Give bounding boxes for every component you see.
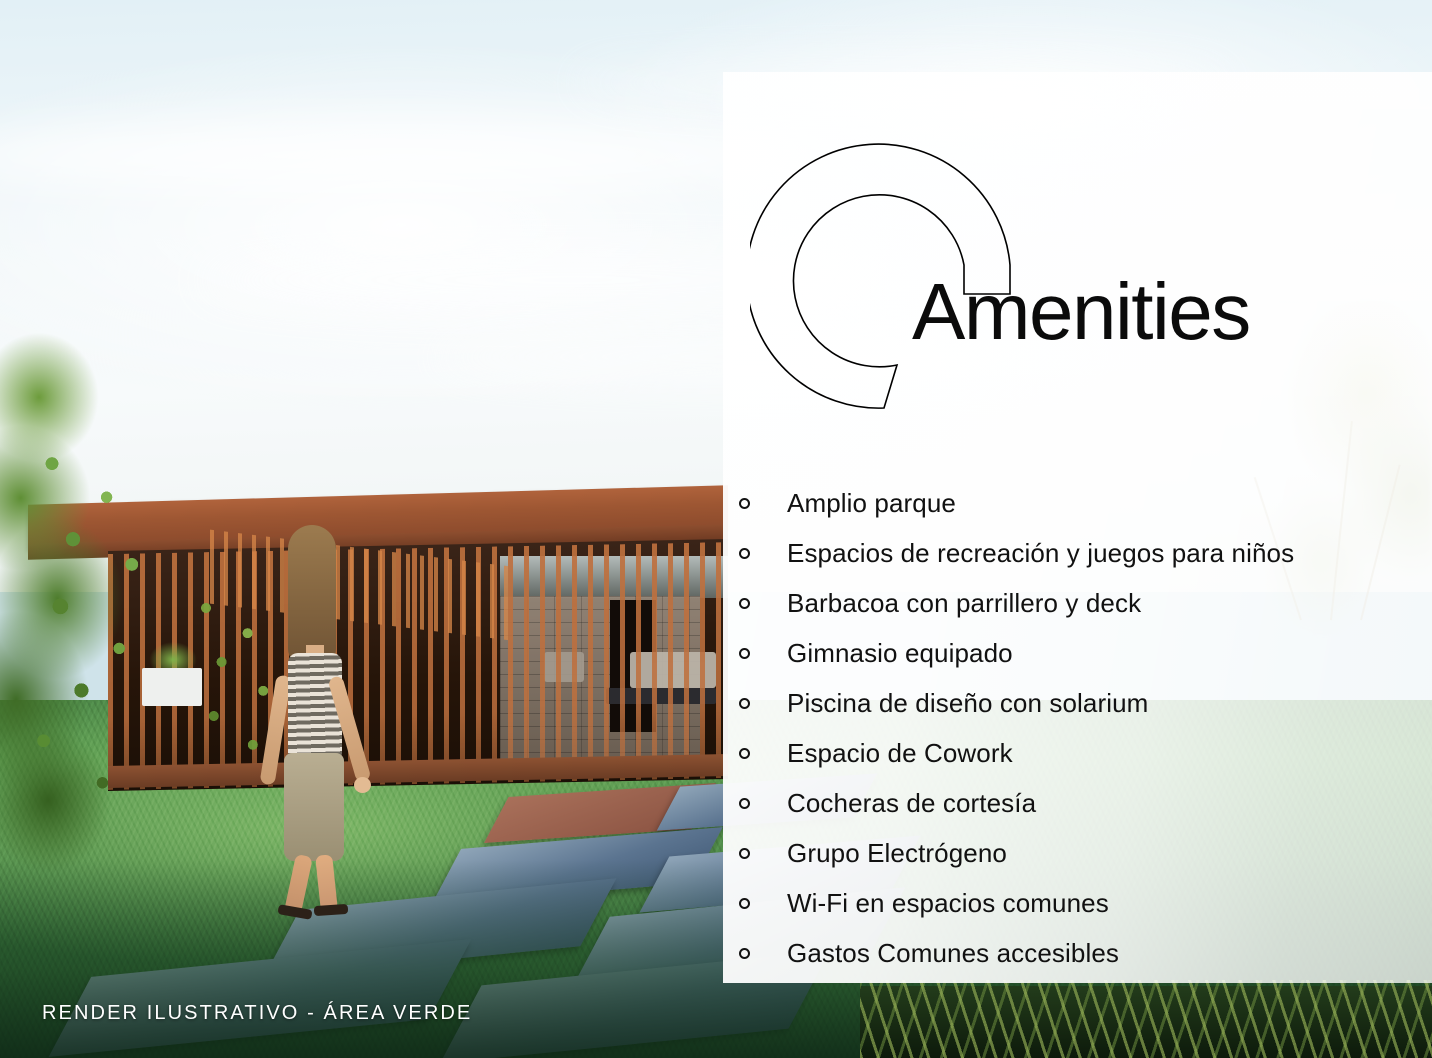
circle-bullet-icon — [739, 898, 750, 909]
list-item[interactable]: Barbacoa con parrillero y deck — [736, 578, 1396, 628]
page-title: Amenities — [912, 272, 1250, 352]
person-leg-right — [315, 854, 338, 911]
list-item-label: Wi-Fi en espacios comunes — [787, 888, 1109, 919]
left-vine — [10, 430, 220, 850]
list-item[interactable]: Cocheras de cortesía — [736, 778, 1396, 828]
circle-bullet-icon — [739, 948, 750, 959]
list-item-label: Espacio de Cowork — [787, 738, 1013, 769]
list-item[interactable]: Wi-Fi en espacios comunes — [736, 878, 1396, 928]
render-caption: RENDER ILUSTRATIVO - ÁREA VERDE — [42, 1002, 472, 1025]
circle-bullet-icon — [739, 548, 750, 559]
list-item-label: Gastos Comunes accesibles — [787, 938, 1119, 969]
list-item[interactable]: Espacios de recreación y juegos para niñ… — [736, 528, 1396, 578]
list-item-label: Cocheras de cortesía — [787, 788, 1036, 819]
walking-person — [250, 525, 400, 925]
list-item[interactable]: Piscina de diseño con solarium — [736, 678, 1396, 728]
circle-bullet-icon — [739, 598, 750, 609]
person-shorts — [284, 753, 344, 861]
person-sandal-right — [314, 904, 349, 916]
circle-bullet-icon — [739, 698, 750, 709]
list-item-label: Amplio parque — [787, 488, 956, 519]
list-item[interactable]: Gastos Comunes accesibles — [736, 928, 1396, 978]
list-item[interactable]: Grupo Electrógeno — [736, 828, 1396, 878]
list-item[interactable]: Gimnasio equipado — [736, 628, 1396, 678]
list-item[interactable]: Amplio parque — [736, 478, 1396, 528]
list-item-label: Piscina de diseño con solarium — [787, 688, 1148, 719]
person-hand — [354, 777, 371, 793]
list-item-label: Gimnasio equipado — [787, 638, 1013, 669]
list-item-label: Grupo Electrógeno — [787, 838, 1007, 869]
foreground-foliage-blades — [860, 980, 1432, 1058]
person-sandal-left — [277, 904, 312, 920]
slide-canvas: RENDER ILUSTRATIVO - ÁREA VERDE Amenitie… — [0, 0, 1432, 1058]
circle-bullet-icon — [739, 498, 750, 509]
amenities-list: Amplio parque Espacios de recreación y j… — [736, 478, 1396, 978]
person-hair — [288, 525, 336, 665]
circle-bullet-icon — [739, 798, 750, 809]
person-top — [288, 653, 342, 759]
list-item-label: Espacios de recreación y juegos para niñ… — [787, 538, 1294, 569]
list-item[interactable]: Espacio de Cowork — [736, 728, 1396, 778]
circle-bullet-icon — [739, 748, 750, 759]
list-item-label: Barbacoa con parrillero y deck — [787, 588, 1141, 619]
circle-bullet-icon — [739, 648, 750, 659]
circle-bullet-icon — [739, 848, 750, 859]
